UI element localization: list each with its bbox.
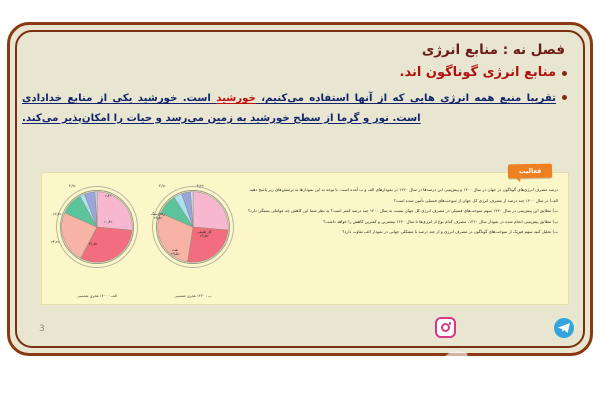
slice-label-oil: نفت ۲۹٫۵٪ — [171, 248, 179, 257]
slice-label-oil: ۳۱٫۵٪ — [89, 242, 97, 246]
page-title: فصل نه : منابع انرژی — [422, 42, 565, 58]
bullet-headline: منابع انرژی گوناگون اند. — [400, 65, 567, 80]
activity-line: درصد مصرف انرژی‌های گوناگون در جهان در س… — [246, 185, 558, 195]
bullet-paragraph: تقریبا منبع همه انرژی هایی که از آنها اس… — [22, 89, 567, 128]
activity-panel: فعالیت درصد مصرف انرژی‌های گوناگون در جه… — [41, 172, 569, 305]
pie-slices-alef — [60, 190, 134, 264]
body-highlight: خورشید — [216, 93, 256, 104]
pie-caption-be: ب : ۱۴۲۰ هجری شمسی — [145, 294, 241, 298]
slide-stage: فصل نه : منابع انرژی منابع انرژی گوناگون… — [0, 0, 600, 400]
activity-line: ب) مطابق این پیش‌بینی در سال ۱۴۲۰ سهم سو… — [246, 206, 558, 216]
telegram-icon[interactable] — [554, 318, 574, 338]
slice-label-coal: ۲۶٫۸٪ — [53, 212, 61, 216]
activity-line: ت) تحلیل کنید سهم فیزیک از سوخت‌های گونا… — [246, 227, 558, 237]
activity-tab-badge: فعالیت — [508, 164, 553, 179]
activity-question-text: درصد مصرف انرژی‌های گوناگون در جهان در س… — [246, 185, 558, 238]
instagram-icon[interactable] — [435, 317, 456, 338]
bullet-dot-icon — [562, 95, 567, 100]
activity-line: پ) مطابق پیش‌بینی انجام شده در نمودار سا… — [246, 217, 558, 227]
slice-label-gas: گاز طبیعی ۲۶٫۵٪ — [197, 230, 212, 239]
slide-frame-outer: فصل نه : منابع انرژی منابع انرژی گوناگون… — [7, 22, 593, 356]
activity-line: الف) در سال ۱۴۰۰ چند درصد از مصرف انرژی … — [246, 196, 558, 206]
bullet-headline-label: منابع انرژی گوناگون اند. — [400, 65, 556, 80]
pie-slices-be — [156, 190, 230, 264]
instagram-link[interactable] — [435, 317, 456, 338]
body-paragraph: تقریبا منبع همه انرژی هایی که از آنها اس… — [22, 89, 556, 128]
pie-chart-be: زغال‌سنگ ۲۶٫۸٪ گاز طبیعی ۲۶٫۵٪ نفت ۲۹٫۵٪ — [145, 182, 241, 302]
slice-label-biomass: ۱۰٫۴٪ — [104, 220, 112, 224]
charts-figure: ۲۶٫۸٪ ۳۱٫۵٪ ۲۴٫۲٪ ۱۰٫۴٪ ۲٫۴٪ — [45, 176, 245, 303]
slice-label-nuclear: ۴٫۹٪ — [69, 184, 76, 188]
slice-label-coal: زغال‌سنگ ۲۶٫۸٪ — [151, 212, 165, 221]
pie-chart-alef: ۲۶٫۸٪ ۳۱٫۵٪ ۲۴٫۲٪ ۱۰٫۴٪ ۲٫۴٪ — [49, 182, 145, 302]
telegram-link[interactable] — [554, 318, 574, 338]
slice-label-gas: ۲۴٫۲٪ — [51, 240, 59, 244]
bullet-dot-icon — [562, 71, 567, 76]
slice-label-hydro: ۲٫۴٪ — [105, 194, 112, 198]
pie-caption-alef: الف : ۱۴۰۰ هجری شمسی — [49, 294, 145, 298]
page-number: 3 — [39, 324, 45, 334]
slice-label-hydro: ۳٫۹٪ — [159, 184, 166, 188]
slide-frame-inner: فصل نه : منابع انرژی منابع انرژی گوناگون… — [15, 30, 585, 348]
body-part-1: تقریبا منبع همه انرژی هایی که از آنها اس… — [256, 93, 556, 104]
slice-label-nuclear: ۴٫۲٪ — [197, 184, 204, 188]
body-part-3: نور و گرما از سطح خورشید به زمین می‌رسد … — [22, 113, 389, 124]
